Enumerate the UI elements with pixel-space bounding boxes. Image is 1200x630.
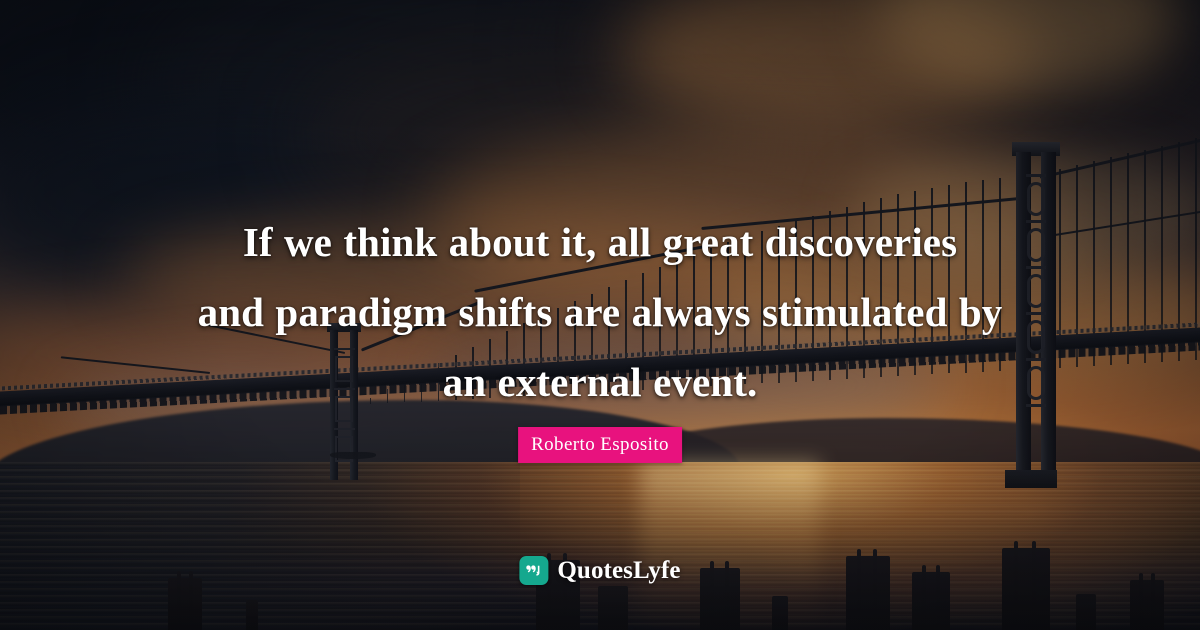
brand-watermark: QuotesLyfe [519,556,680,585]
brand-name: QuotesLyfe [557,557,680,585]
quote-text: If we think about it, all great discover… [135,207,1065,417]
quote-marks-icon [519,556,548,585]
card-content: If we think about it, all great discover… [0,0,1200,630]
author-name-badge: Roberto Esposito [518,427,682,463]
quote-line: If we think about it, all great discover… [243,219,957,265]
quote-card: If we think about it, all great discover… [0,0,1200,630]
quote-line: and paradigm shifts are always stimulate… [198,289,1003,335]
quote-line: an external event. [443,359,758,405]
author-attribution: Roberto Esposito [518,427,682,463]
